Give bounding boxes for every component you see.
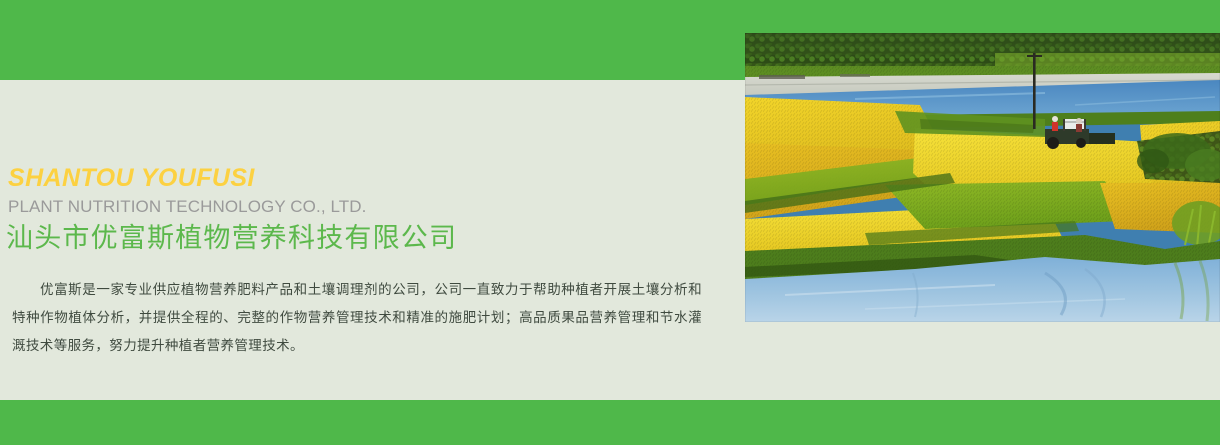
- brand-name-english: SHANTOU YOUFUSI: [8, 166, 255, 191]
- bottom-green-band: [0, 400, 1220, 445]
- brand-name-chinese: 汕头市优富斯植物营养科技有限公司: [6, 222, 457, 256]
- rice-field-illustration: [745, 33, 1220, 322]
- intro-content-area: SHANTOU YOUFUSI PLANT NUTRITION TECHNOLO…: [0, 80, 745, 400]
- brand-subtitle-english: PLANT NUTRITION TECHNOLOGY CO., LTD.: [8, 198, 366, 215]
- company-intro-paragraph: 优富斯是一家专业供应植物营养肥料产品和土壤调理剂的公司，公司一直致力于帮助种植者…: [12, 276, 702, 360]
- rice-field-photo: [745, 33, 1220, 322]
- page-root: SHANTOU YOUFUSI PLANT NUTRITION TECHNOLO…: [0, 0, 1220, 445]
